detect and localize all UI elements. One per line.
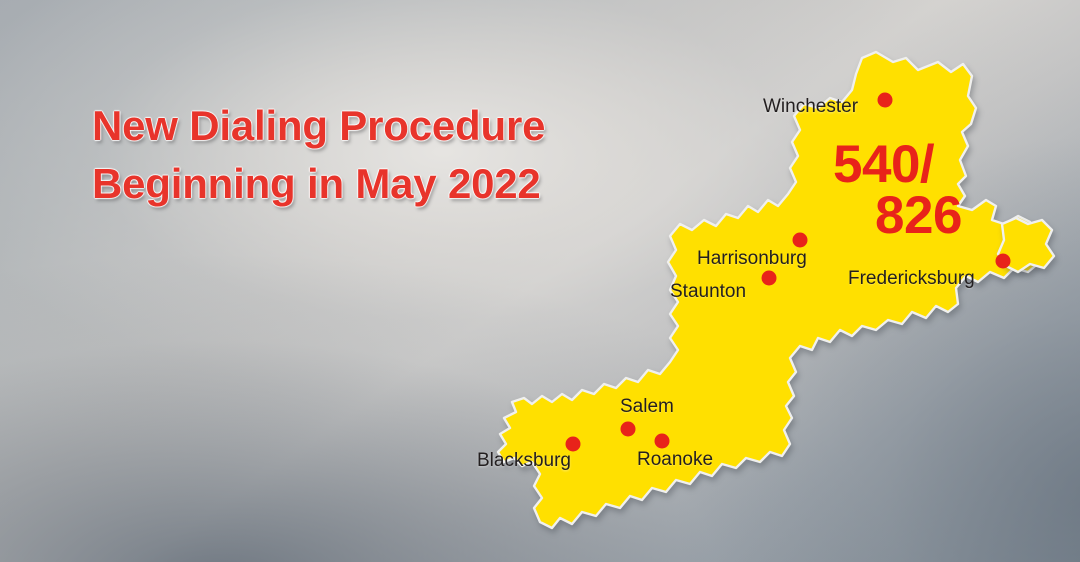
area-code-line-1: 540/ — [833, 139, 962, 190]
city-dot-fredericksburg — [996, 254, 1011, 269]
area-code-label: 540/ 826 — [833, 139, 962, 241]
region-polygon-main — [498, 52, 1040, 528]
city-dot-harrisonburg — [793, 233, 808, 248]
area-code-map: 540/ 826 Winchester Harrisonburg Staunto… — [0, 0, 1080, 562]
city-label-winchester: Winchester — [763, 96, 858, 118]
city-label-roanoke: Roanoke — [637, 449, 713, 471]
city-dot-staunton — [762, 271, 777, 286]
dialing-procedure-poster: New Dialing Procedure Beginning in May 2… — [0, 0, 1080, 562]
city-label-staunton: Staunton — [670, 281, 746, 303]
city-dot-winchester — [878, 93, 893, 108]
city-dot-salem — [621, 422, 636, 437]
city-label-blacksburg: Blacksburg — [477, 450, 571, 472]
area-code-line-2: 826 — [833, 190, 962, 241]
city-dot-roanoke — [655, 434, 670, 449]
city-label-salem: Salem — [620, 396, 674, 418]
city-label-harrisonburg: Harrisonburg — [697, 248, 807, 270]
city-label-fredericksburg: Fredericksburg — [848, 268, 975, 290]
